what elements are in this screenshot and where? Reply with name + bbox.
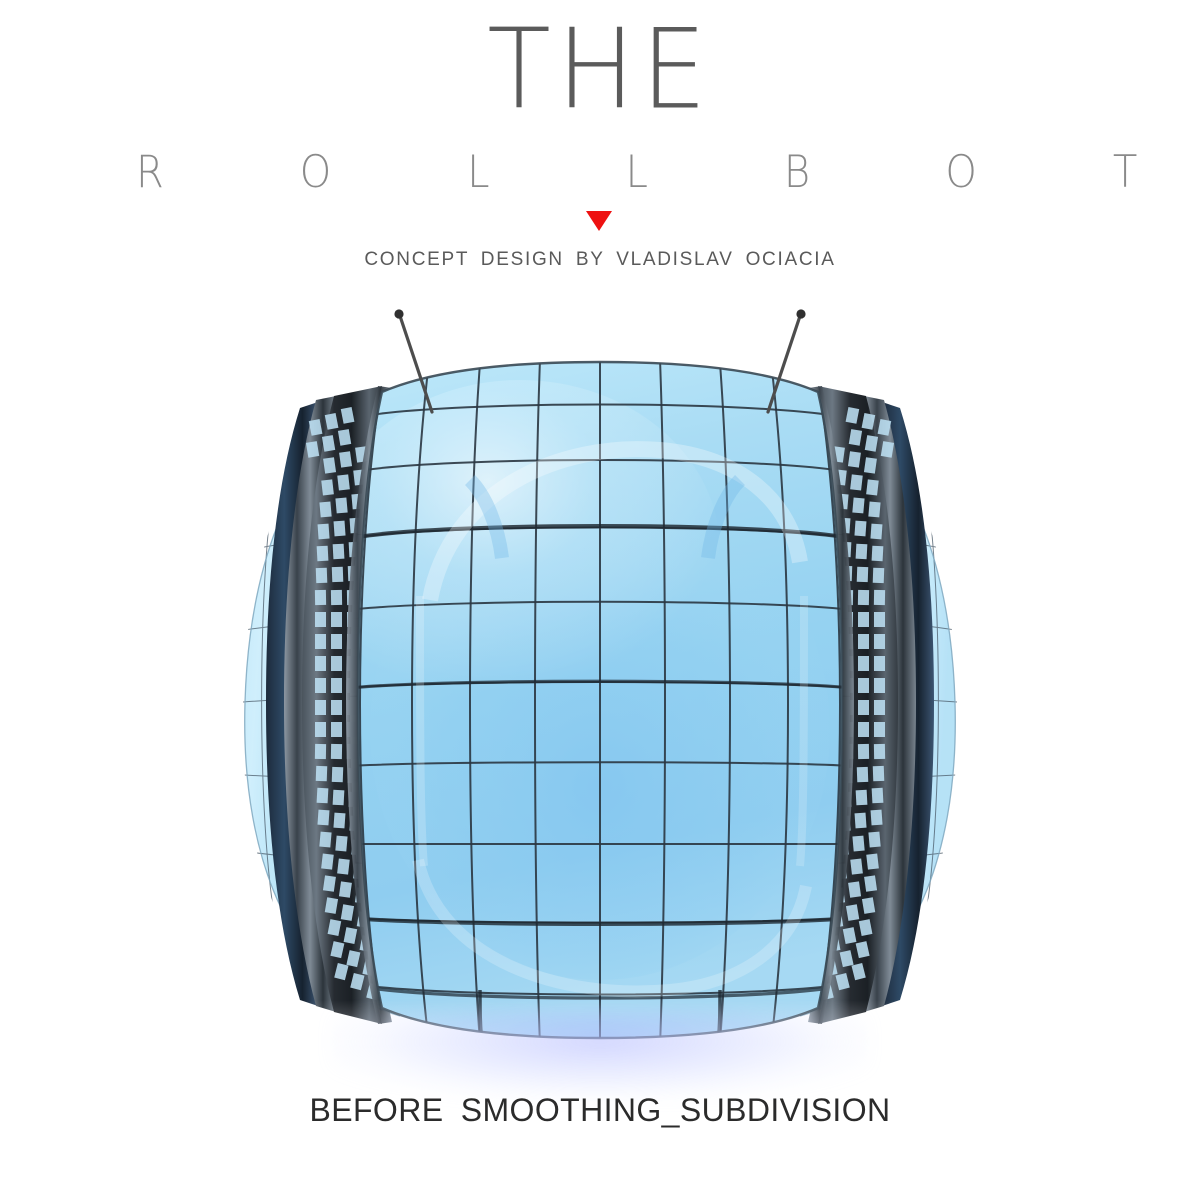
rollbot-artwork xyxy=(0,300,1200,1100)
figure-caption: BEFORE SMOOTHING_SUBDIVISION xyxy=(0,1092,1200,1129)
page-title: THE xyxy=(0,14,1200,124)
byline: CONCEPT DESIGN BY VLADISLAV OCIACIA xyxy=(0,249,1200,271)
rollbot-svg xyxy=(0,300,1200,1100)
poster-canvas: THE ROLLBOT CONCEPT DESIGN BY VLADISLAV … xyxy=(0,0,1200,1200)
red-down-triangle-icon xyxy=(586,211,612,231)
page-subtitle: ROLLBOT xyxy=(0,150,1200,195)
robot-body xyxy=(320,358,853,1048)
